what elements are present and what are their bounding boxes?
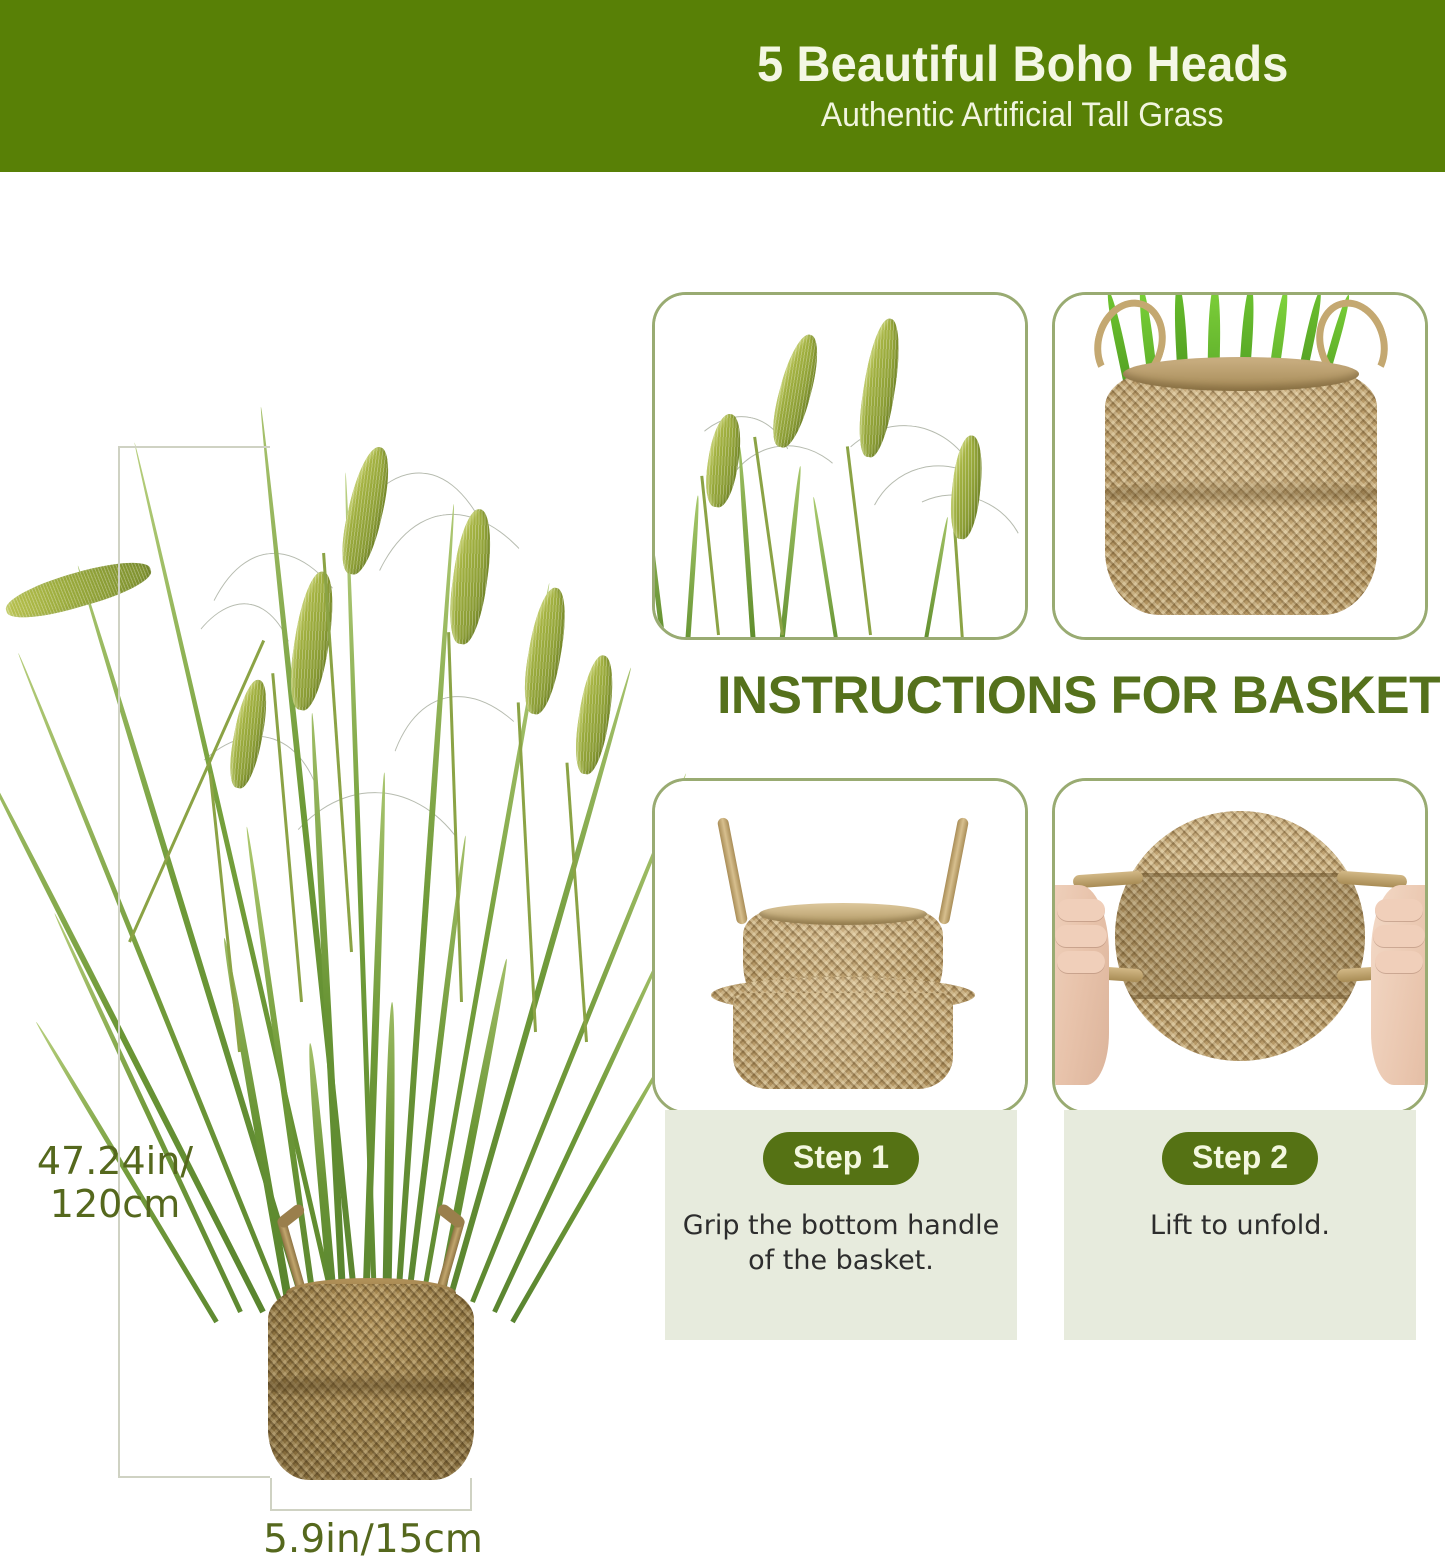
page-subtitle: Authentic Artificial Tall Grass bbox=[821, 97, 1224, 134]
height-bracket-top bbox=[118, 446, 270, 448]
height-bracket-vertical bbox=[118, 446, 120, 1478]
basket-body bbox=[1105, 367, 1377, 615]
finger bbox=[1375, 899, 1423, 921]
width-bracket-left-tick bbox=[270, 1478, 272, 1511]
basket-waist-fold bbox=[268, 1372, 474, 1400]
instructions-heading: INSTRUCTIONS FOR BASKET bbox=[676, 660, 1440, 732]
height-bracket-bottom bbox=[118, 1476, 270, 1478]
step2-badge: Step 2 bbox=[1162, 1132, 1318, 1185]
header-banner: 5 Beautiful Boho Heads Authentic Artific… bbox=[0, 0, 1445, 172]
hero-product-image: 47.24in/ 120cm 5.9in/15cm bbox=[0, 172, 630, 1403]
step1-photo bbox=[652, 778, 1028, 1114]
basket-waist-fold bbox=[1105, 479, 1377, 509]
step1-badge: Step 1 bbox=[763, 1132, 919, 1185]
width-bracket-right-tick bbox=[470, 1478, 472, 1511]
finger bbox=[1055, 925, 1107, 947]
basket-interior-shadow bbox=[1115, 877, 1365, 995]
width-dimension-label: 5.9in/15cm bbox=[250, 1518, 496, 1562]
grass-blade bbox=[510, 1044, 674, 1324]
finger bbox=[1057, 951, 1105, 973]
unfolded-basket-disc bbox=[1115, 811, 1365, 1061]
basket-rim bbox=[1123, 357, 1359, 391]
seagrass-belly-basket bbox=[268, 1232, 474, 1480]
step1-caption: Grip the bottom handle of the basket. bbox=[675, 1208, 1007, 1278]
grass-closeup-photo bbox=[652, 292, 1028, 640]
boho-seed-head bbox=[766, 331, 826, 451]
step1-caption-panel: Step 1 Grip the bottom handle of the bas… bbox=[665, 1110, 1017, 1340]
basket-lower-body bbox=[733, 993, 953, 1089]
finger bbox=[1373, 925, 1425, 947]
height-dimension-label: 47.24in/ 120cm bbox=[20, 1140, 210, 1225]
basket-fold-line bbox=[1115, 995, 1365, 999]
height-dimension-line1: 47.24in/ bbox=[20, 1140, 210, 1183]
width-bracket-horizontal bbox=[270, 1509, 472, 1511]
step2-photo bbox=[1052, 778, 1428, 1114]
finger bbox=[1375, 951, 1423, 973]
grass-blade bbox=[652, 476, 666, 640]
page-title: 5 Beautiful Boho Heads bbox=[757, 38, 1289, 90]
basket-closeup-photo bbox=[1052, 292, 1428, 640]
folded-belly-basket bbox=[707, 817, 979, 1085]
header-text-block: 5 Beautiful Boho Heads Authentic Artific… bbox=[600, 0, 1445, 172]
basket-rim bbox=[759, 903, 927, 925]
basket-body bbox=[268, 1284, 474, 1480]
step2-caption: Lift to unfold. bbox=[1074, 1208, 1406, 1243]
finger bbox=[1057, 899, 1105, 921]
boho-seed-head bbox=[2, 553, 156, 627]
basket-weave-texture bbox=[733, 993, 953, 1089]
height-dimension-line2: 120cm bbox=[20, 1183, 210, 1226]
step2-caption-panel: Step 2 Lift to unfold. bbox=[1064, 1110, 1416, 1340]
seagrass-belly-basket bbox=[1083, 305, 1399, 625]
